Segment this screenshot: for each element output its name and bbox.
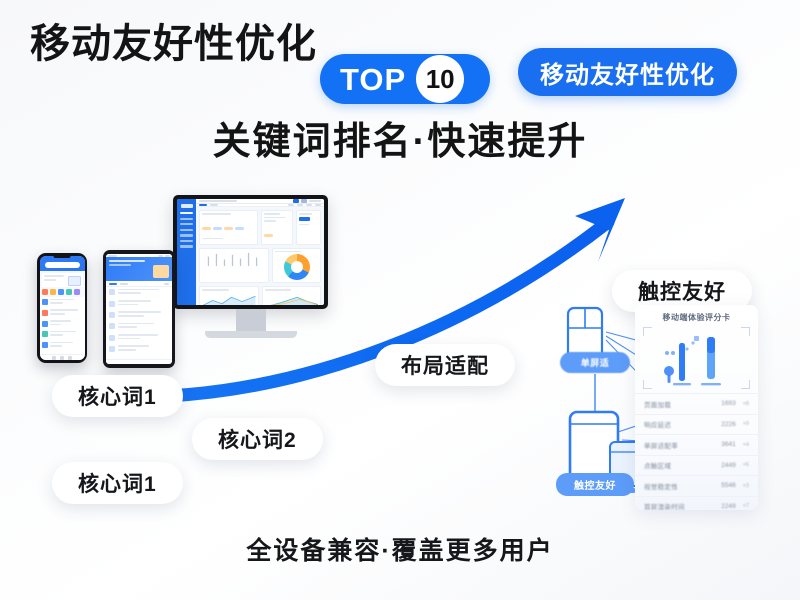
dashboard-sidebar [177,199,196,305]
list-item [42,342,83,349]
donut-chart-icon [284,254,310,280]
scorecard-row-delta: +9 [743,421,749,427]
scorecard-bar-chart [643,327,750,389]
phone-promo-banner [42,273,83,286]
scorecard-row-value: 1693 [721,400,735,407]
tablet-screen [106,254,172,364]
scorecard-row-value: 2226 [721,421,735,428]
dashboard-card-area-1 [199,286,259,305]
phone-mockup [37,253,87,363]
tablet-home-indicator [106,359,172,364]
device-mockup-cluster [25,195,335,375]
scorecard-row-value: 2249 [721,503,735,510]
scorecard-row-label: 响应延迟 [644,419,721,429]
tabbar-icon [60,356,64,360]
quick-icon [66,289,72,295]
scorecard-row-delta: +7 [743,503,749,509]
topbar-user [309,200,321,202]
top-rank-badge: TOP 10 [320,54,490,104]
list-item [42,299,83,306]
scorecard-row-value: 3641 [721,441,735,448]
dashboard-card-stat [296,210,321,245]
list-item [109,300,169,307]
list-item [42,309,83,316]
tablet-hero-thumbnail [153,265,169,278]
dashboard-nav-item [180,223,193,225]
dashboard-card-donut [272,248,321,284]
footer-tagline: 全设备兼容·覆盖更多用户 [0,531,800,567]
dashboard-card-table [261,210,292,245]
dashboard-card-bars [199,248,269,284]
quick-icon [42,289,48,295]
header-tag-badge: 移动友好性优化 [518,48,737,96]
page-title: 移动友好性优化 [30,24,317,64]
table-row: 点触区域 2449 +6 [635,455,758,476]
phone-quick-icons [40,289,85,297]
dashboard-logo-icon [181,204,193,208]
dashboard-nav-item [180,234,193,236]
scorecard-row-list: 页面加载 1693 +8 响应延迟 2226 +9 单屏适配率 3641 +4 … [635,393,758,510]
quick-icon [74,289,80,295]
list-item [42,320,83,327]
phone-search-bar [45,262,80,268]
dashboard-widget-grid [196,207,324,305]
diagram-pill-split: 单屏适 [560,352,630,373]
phone-banner-image [68,276,81,286]
dashboard-card-filters [199,210,258,245]
list-item [109,345,169,352]
dashboard-nav-item [180,218,193,220]
scorecard-row-value: 5546 [721,482,735,489]
tablet-hero-banner [106,257,172,281]
phone-result-list [40,297,85,355]
tablet-result-list [106,287,172,359]
phone-notch [54,254,71,258]
scorecard-row-label: 视觉稳定性 [644,481,721,491]
scorecard-row-label: 单屏适配率 [644,440,721,450]
dashboard-nav-item [180,212,193,214]
list-item [109,323,169,330]
list-item [109,334,169,341]
callout-pill-layout[interactable]: 布局适配 [375,344,515,386]
desktop-dashboard-screen [177,199,324,305]
diagram-pill-touch: 触控友好 [556,473,634,496]
topbar-chip [293,199,299,203]
table-row: 页面加载 1693 +8 [635,393,758,414]
scorecard-chart [643,327,750,389]
tabbar-icon [68,356,72,360]
topbar-search-bar [199,200,237,202]
scorecard-row-delta: +3 [743,483,749,489]
monitor-bezel [173,195,328,309]
desktop-monitor-mockup [173,195,328,338]
table-row: 响应延迟 2226 +9 [635,414,758,435]
table-row: 单屏适配率 3641 +4 [635,434,758,455]
topbar-chip [301,199,307,203]
scorecard-row-delta: +4 [743,442,749,448]
table-row: 首屏渲染时间 2249 +7 [635,496,758,511]
dashboard-nav-item [180,245,193,247]
page-subtitle: 关键词排名·快速提升 [0,122,800,164]
scorecard-row-label: 页面加载 [644,399,721,409]
phone-screen [40,256,85,360]
keyword-pill-2[interactable]: 核心词2 [192,418,323,460]
phone-app-header [40,256,85,271]
list-item [109,289,169,296]
mobile-experience-scorecard: 移动端体验评分卡 页面加载 1693 [635,305,758,510]
keyword-pill-1[interactable]: 核心词1 [52,375,183,417]
scorecard-row-delta: +6 [743,462,749,468]
scorecard-row-label: 首屏渲染时间 [644,501,721,510]
monitor-stand [236,309,266,331]
scorecard-row-label: 点触区域 [644,460,721,470]
keyword-pill-3[interactable]: 核心词1 [52,462,183,504]
tablet-mockup [103,250,175,368]
scorecard-title: 移动端体验评分卡 [635,312,758,323]
top-badge-word: TOP [340,64,406,95]
dashboard-body [196,199,324,305]
dashboard-card-area-2 [262,286,322,305]
quick-icon [58,289,64,295]
top-badge-number: 10 [416,55,464,103]
scorecard-row-delta: +8 [743,401,749,407]
list-item [109,311,169,318]
quick-icon [50,289,56,295]
phone-bottom-tabbar [40,354,85,360]
tabbar-icon [52,356,56,360]
monitor-foot [205,331,297,338]
scorecard-row-value: 2449 [721,462,735,469]
table-row: 视觉稳定性 5546 +3 [635,475,758,496]
dashboard-nav-item [180,240,193,242]
list-item [42,331,83,338]
dashboard-nav-item [180,229,193,231]
poster-canvas: 移动友好性优化 TOP 10 移动友好性优化 关键词排名·快速提升 [0,0,800,600]
